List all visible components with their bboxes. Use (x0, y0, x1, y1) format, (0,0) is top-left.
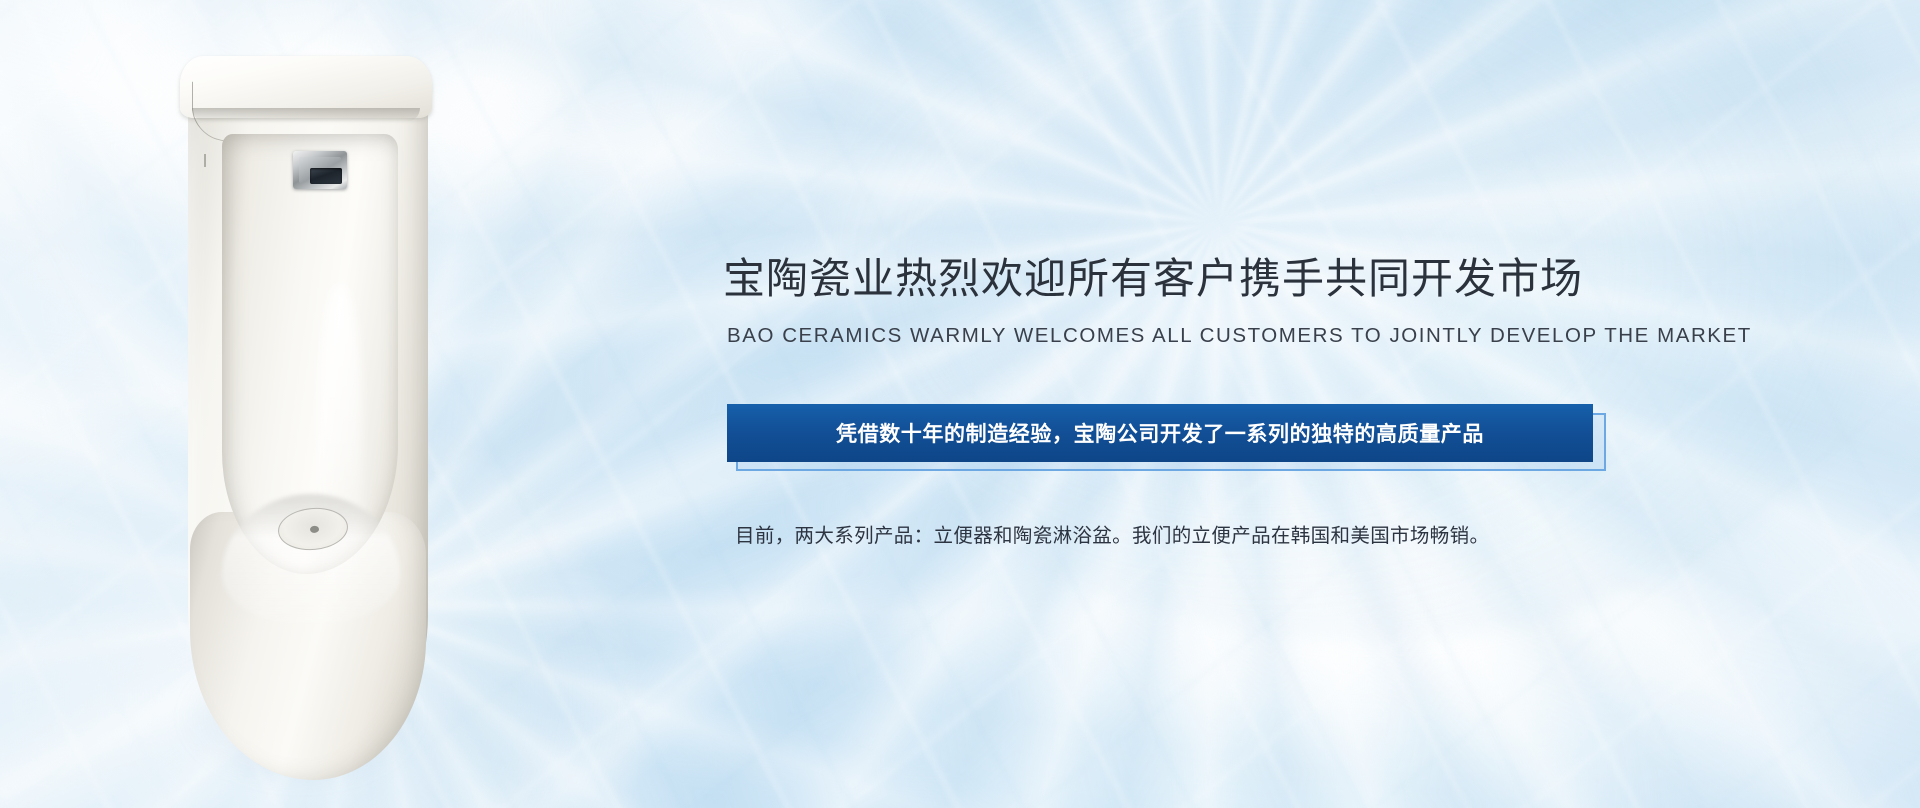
highlight-ribbon: 凭借数十年的制造经验，宝陶公司开发了一系列的独特的高质量产品 (727, 404, 1607, 476)
sensor-bezel (299, 157, 341, 183)
drain-hole (310, 525, 320, 533)
product-image-urinal (150, 42, 480, 772)
sensor-eye (310, 168, 342, 184)
urinal-edge-tick-mark (204, 154, 206, 167)
body-paragraph: 目前，两大系列产品：立便器和陶瓷淋浴盆。我们的立便产品在韩国和美国市场畅销。 (735, 521, 1595, 551)
page-title: 宝陶瓷业热烈欢迎所有客户携手共同开发市场 (723, 252, 1583, 306)
flush-sensor-icon (293, 151, 347, 189)
ribbon-bar: 凭借数十年的制造经验，宝陶公司开发了一系列的独特的高质量产品 (727, 404, 1593, 462)
ribbon-label: 凭借数十年的制造经验，宝陶公司开发了一系列的独特的高质量产品 (836, 418, 1484, 448)
page-subtitle: BAO CERAMICS WARMLY WELCOMES ALL CUSTOME… (727, 322, 1587, 350)
hero-banner: 宝陶瓷业热烈欢迎所有客户携手共同开发市场 BAO CERAMICS WARMLY… (0, 0, 1920, 808)
